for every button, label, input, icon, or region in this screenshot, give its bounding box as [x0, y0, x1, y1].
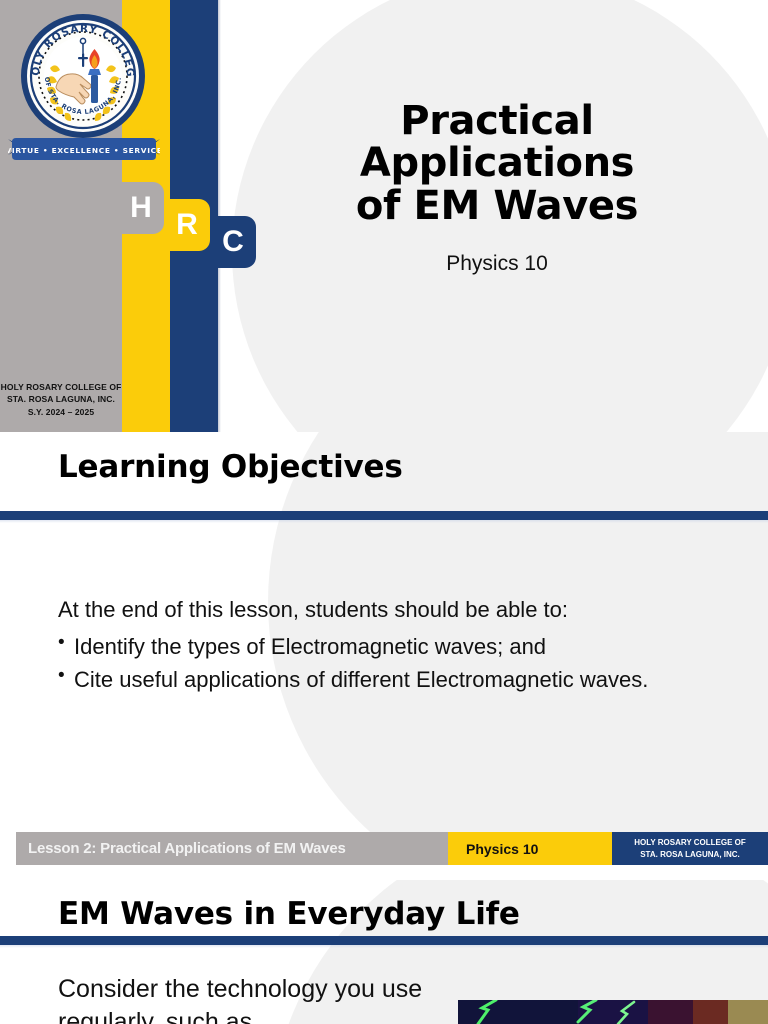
slide-learning-objectives: Learning Objectives At the end of this l… — [0, 432, 768, 832]
letter-block-r-label: R — [176, 210, 198, 240]
motto-ribbon: VIRTUE • EXCELLENCE • SERVICE — [8, 133, 160, 165]
section-heading-em-waves-everyday-life: EM Waves in Everyday Life — [58, 896, 520, 932]
objectives-lead: At the end of this lesson, students shou… — [58, 594, 708, 625]
page-title-line-1: Practical — [250, 100, 744, 142]
heading-divider — [0, 511, 768, 520]
objectives-body: At the end of this lesson, students shou… — [58, 594, 708, 698]
college-seal-icon: HOLY ROSARY COLLEGE OF STA. ROSA LAGUNA,… — [20, 13, 146, 139]
page-subtitle: Physics 10 — [250, 252, 744, 276]
footer-school-line-1: HOLY ROSARY COLLEGE OF — [634, 837, 746, 849]
letter-block-h: H — [118, 182, 164, 234]
section-heading-learning-objectives: Learning Objectives — [58, 449, 403, 485]
svg-text:VIRTUE • EXCELLENCE • SERVICE: VIRTUE • EXCELLENCE • SERVICE — [8, 146, 160, 155]
school-identity-block: HOLY ROSARY COLLEGE OF STA. ROSA LAGUNA,… — [0, 381, 122, 418]
objectives-list: Identify the types of Electromagnetic wa… — [58, 631, 708, 695]
slide-title: HOLY ROSARY COLLEGE OF STA. ROSA LAGUNA,… — [0, 0, 768, 432]
letter-block-r: R — [164, 199, 210, 251]
heading-divider-shadow — [0, 945, 768, 948]
letter-block-c-label: C — [222, 227, 244, 257]
page-title-line-3: of EM Waves — [250, 185, 744, 227]
body-paragraph: Consider the technology you use regularl… — [58, 973, 448, 1024]
page-title: Practical Applications of EM Waves — [250, 100, 744, 227]
list-item: Cite useful applications of different El… — [58, 664, 708, 695]
waveform-photo — [458, 1000, 768, 1024]
footer-lesson-label: Lesson 2: Practical Applications of EM W… — [16, 832, 448, 865]
footer-subject-label: Physics 10 — [448, 832, 612, 865]
heading-divider-shadow — [0, 520, 768, 523]
footer-school-badge: HOLY ROSARY COLLEGE OF STA. ROSA LAGUNA,… — [612, 832, 768, 865]
letter-block-h-label: H — [130, 193, 152, 223]
school-name-line-2: STA. ROSA LAGUNA, INC. — [0, 393, 122, 405]
list-item: Identify the types of Electromagnetic wa… — [58, 631, 708, 662]
slide-deck: HOLY ROSARY COLLEGE OF STA. ROSA LAGUNA,… — [0, 0, 768, 1024]
school-name-line-1: HOLY ROSARY COLLEGE OF — [0, 381, 122, 393]
page-title-line-2: Applications — [250, 142, 744, 184]
lesson-footer-bar: Lesson 2: Practical Applications of EM W… — [16, 832, 768, 865]
footer-school-line-2: STA. ROSA LAGUNA, INC. — [640, 849, 740, 861]
heading-divider — [0, 936, 768, 945]
school-year: S.Y. 2024 – 2025 — [0, 406, 122, 418]
